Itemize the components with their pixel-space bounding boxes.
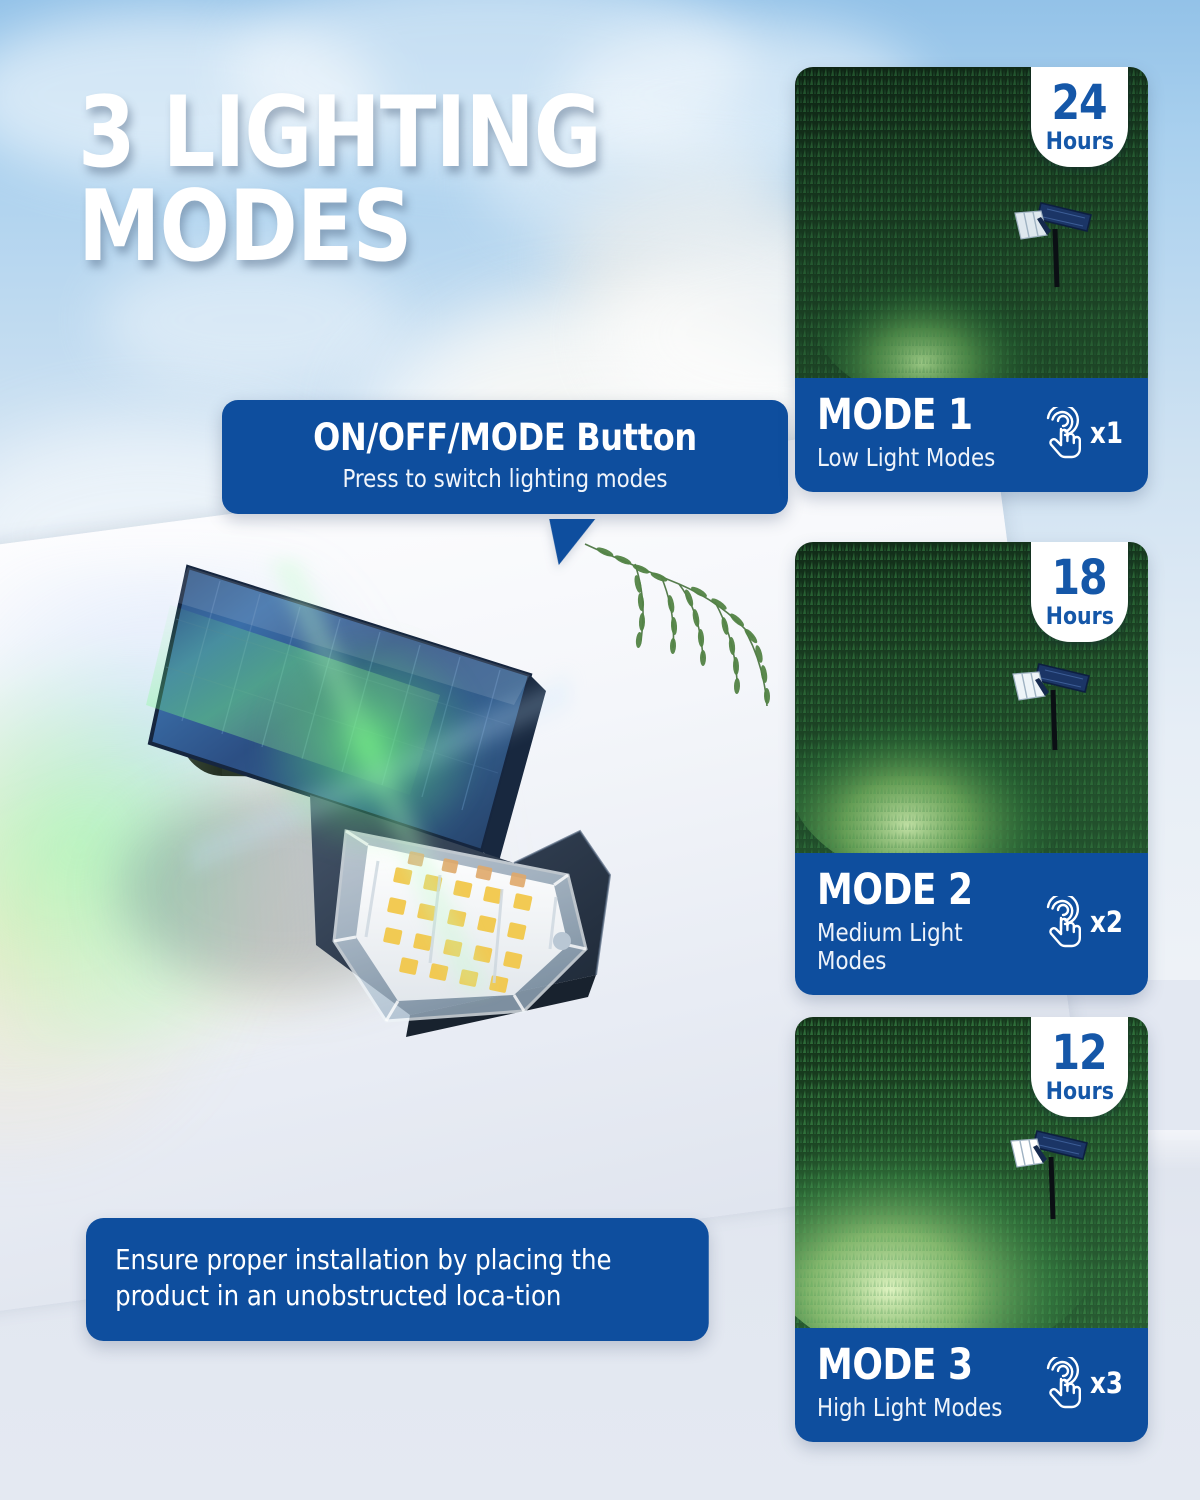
spotlight-icon [1003,1113,1097,1227]
tap-group: x3 [1037,1357,1126,1409]
hours-badge: 18 Hours [1031,542,1128,642]
mode-label-bar: MODE 2 Medium Light Modes x2 [795,853,1148,995]
mode-description: Medium Light Modes [817,919,1026,975]
tap-count: x3 [1090,1366,1123,1400]
callout-bubble: ON/OFF/MODE Button Press to switch light… [222,400,788,514]
hours-unit: Hours [1045,129,1113,153]
solar-wall-light-product [110,545,670,1065]
mode-name: MODE 1 [817,394,992,437]
tap-group: x1 [1037,407,1126,459]
spotlight-icon [1005,646,1097,758]
mode-photo: 24 Hours [795,67,1148,378]
mode-label-bar: MODE 3 High Light Modes x3 [795,1328,1148,1442]
tap-count: x1 [1090,416,1123,450]
mode-name: MODE 2 [817,869,1022,912]
tap-group: x2 [1037,896,1126,948]
mode-text-group: MODE 1 Low Light Modes [817,394,1005,472]
callout-tail [543,519,595,565]
hours-value: 24 [1052,81,1107,125]
page-title: 3 LIGHTING MODES [78,86,680,274]
mode-label-bar: MODE 1 Low Light Modes x1 [795,378,1148,492]
mode-text-group: MODE 2 Medium Light Modes [817,869,1037,975]
tap-hand-icon [1037,896,1085,948]
mode-photo: 12 Hours [795,1017,1148,1328]
mode-text-group: MODE 3 High Light Modes [817,1344,1012,1422]
hours-unit: Hours [1045,604,1113,628]
tap-hand-icon [1037,1357,1085,1409]
mode-name: MODE 3 [817,1344,998,1387]
mode-card[interactable]: 18 Hours MODE 2 Medium Light Modes [795,542,1148,995]
hours-badge: 24 Hours [1031,67,1128,167]
mode-card[interactable]: 12 Hours MODE 3 High Light Modes [795,1017,1148,1442]
mode-description: High Light Modes [817,1394,1002,1422]
installation-note: Ensure proper installation by placing th… [86,1218,709,1341]
tap-count: x2 [1090,905,1123,939]
callout-title: ON/OFF/MODE Button [254,418,755,457]
hours-value: 18 [1052,556,1107,600]
infographic-page: 3 LIGHTING MODES ON/OFF/MODE Button Pres… [0,0,1200,1500]
mode-description: Low Light Modes [817,444,995,472]
callout-subtitle: Press to switch lighting modes [257,464,753,494]
hours-value: 12 [1052,1031,1107,1075]
tap-hand-icon [1037,407,1085,459]
hours-unit: Hours [1045,1079,1113,1103]
hours-badge: 12 Hours [1031,1017,1128,1117]
spotlight-icon [1007,185,1099,295]
mode-card[interactable]: 24 Hours MODE 1 Low Light Modes [795,67,1148,492]
mode-photo: 18 Hours [795,542,1148,853]
